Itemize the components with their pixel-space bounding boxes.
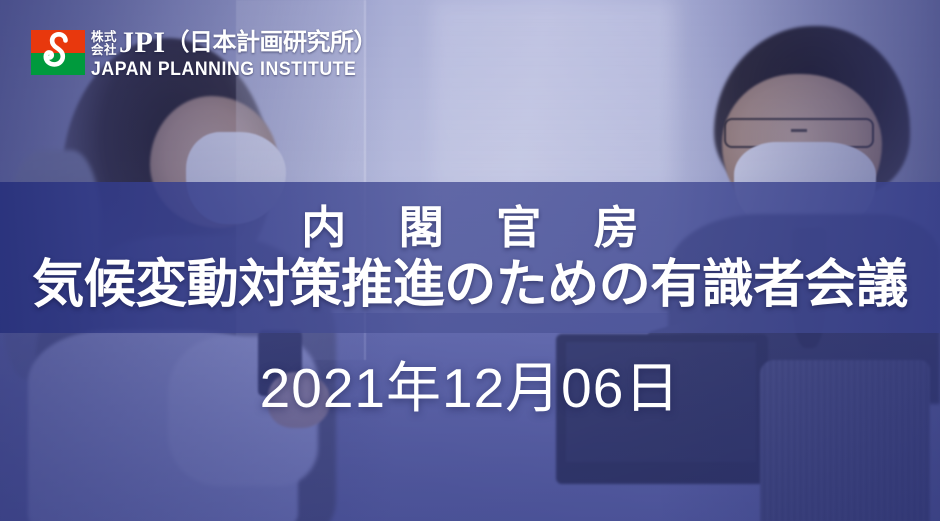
jpi-logo-primary-row: 株式 会社 JPI （日本計画研究所） bbox=[91, 29, 377, 57]
jpi-abbreviation: JPI bbox=[119, 29, 166, 57]
company-prefix-line1: 株式 bbox=[91, 31, 117, 44]
jpi-logo: 株式 会社 JPI （日本計画研究所） JAPAN PLANNING INSTI… bbox=[31, 29, 377, 79]
title-band: 内 閣 官 房 気候変動対策推進のための有識者会議 bbox=[0, 182, 940, 333]
jpi-logo-mark-icon bbox=[31, 30, 85, 75]
jpi-logo-text: 株式 会社 JPI （日本計画研究所） JAPAN PLANNING INSTI… bbox=[91, 29, 377, 79]
organization-title: 内 閣 官 房 bbox=[0, 205, 940, 250]
company-prefix: 株式 会社 bbox=[91, 31, 117, 57]
meeting-subject-title: 気候変動対策推進のための有識者会議 bbox=[0, 259, 940, 311]
title-card: 株式 会社 JPI （日本計画研究所） JAPAN PLANNING INSTI… bbox=[0, 0, 940, 521]
event-date: 2021年12月06日 bbox=[0, 361, 940, 416]
company-name-en: JAPAN PLANNING INSTITUTE bbox=[91, 60, 357, 79]
company-prefix-line2: 会社 bbox=[91, 44, 117, 57]
company-name-jp: （日本計画研究所） bbox=[166, 29, 378, 57]
